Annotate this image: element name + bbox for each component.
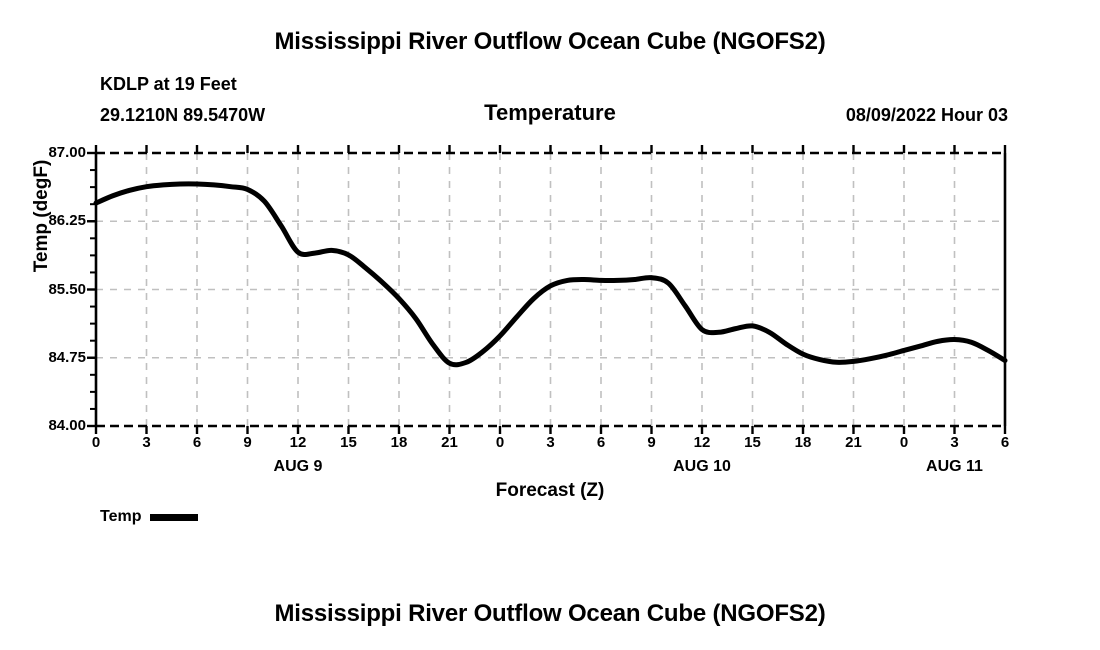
x-tick-label: 6 [581, 434, 621, 451]
x-tick-label: 6 [985, 434, 1025, 451]
x-axis-day-label: AUG 9 [238, 458, 358, 476]
x-tick-label: 6 [177, 434, 217, 451]
x-tick-label: 3 [935, 434, 975, 451]
x-tick-label: 15 [733, 434, 773, 451]
legend: Temp [100, 508, 198, 526]
y-tick-label: 86.25 [8, 212, 86, 229]
x-tick-label: 0 [884, 434, 924, 451]
x-tick-label: 12 [278, 434, 318, 451]
y-tick-label: 84.00 [8, 417, 86, 434]
x-tick-label: 18 [783, 434, 823, 451]
legend-line-swatch [150, 514, 198, 521]
y-tick-label: 85.50 [8, 281, 86, 298]
temperature-chart [0, 0, 1100, 650]
y-tick-label: 84.75 [8, 349, 86, 366]
x-tick-label: 21 [834, 434, 874, 451]
x-tick-label: 21 [430, 434, 470, 451]
x-tick-label: 15 [329, 434, 369, 451]
x-tick-label: 3 [127, 434, 167, 451]
x-tick-label: 0 [76, 434, 116, 451]
x-tick-label: 18 [379, 434, 419, 451]
x-tick-label: 0 [480, 434, 520, 451]
legend-label: Temp [100, 508, 141, 526]
y-tick-label: 87.00 [8, 144, 86, 161]
x-tick-label: 3 [531, 434, 571, 451]
x-axis-day-label: AUG 10 [642, 458, 762, 476]
x-tick-label: 12 [682, 434, 722, 451]
page-title-bottom: Mississippi River Outflow Ocean Cube (NG… [0, 600, 1100, 628]
x-tick-label: 9 [228, 434, 268, 451]
x-tick-label: 9 [632, 434, 672, 451]
x-axis-day-label: AUG 11 [895, 458, 1015, 476]
